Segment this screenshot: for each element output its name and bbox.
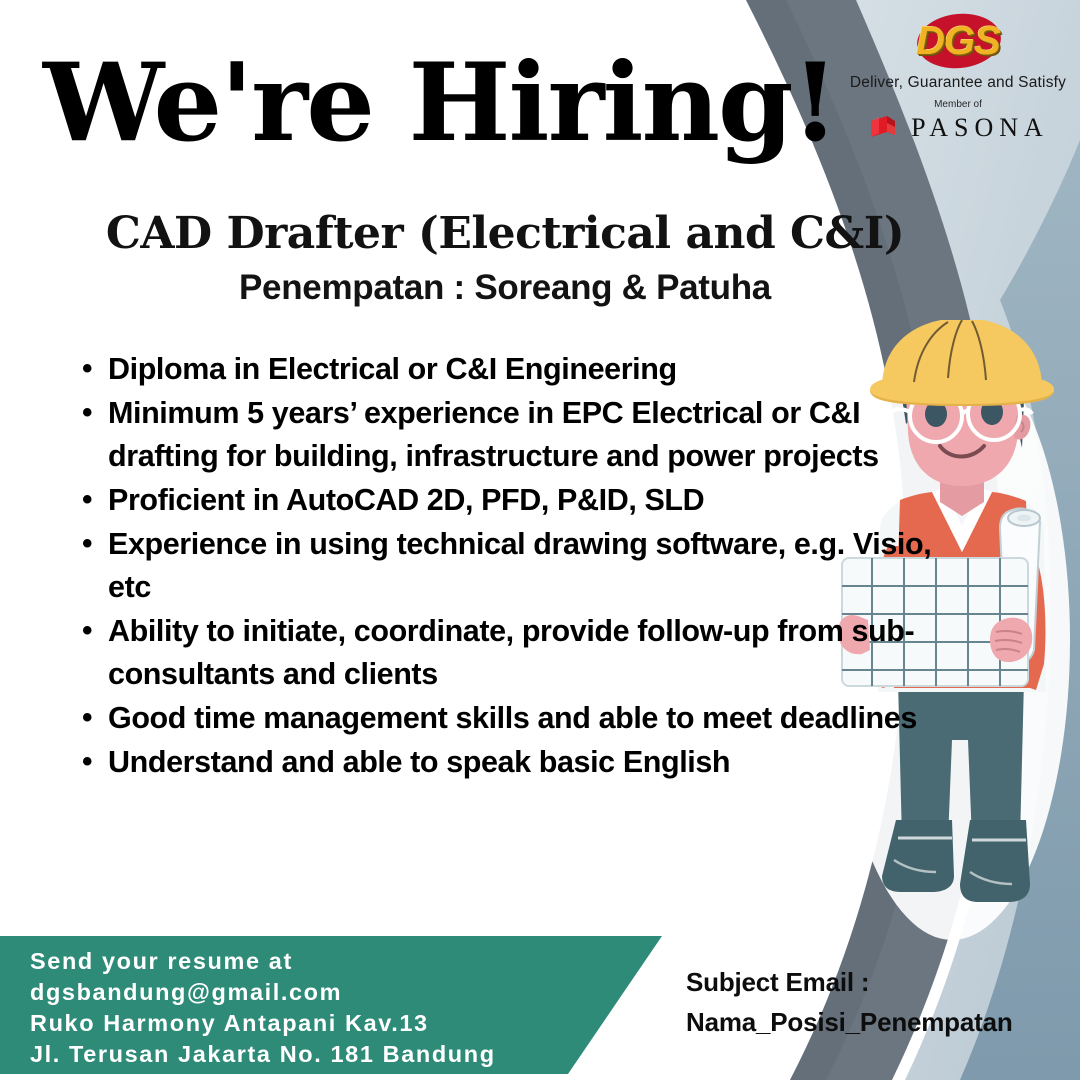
- list-item: Ability to initiate, coordinate, provide…: [72, 610, 962, 696]
- company-logo-block: DGS Deliver, Guarantee and Satisfy Membe…: [844, 10, 1072, 143]
- job-title: CAD Drafter (Electrical and C&I): [0, 208, 1010, 259]
- contact-line: Send your resume at: [30, 946, 590, 977]
- list-item: Understand and able to speak basic Engli…: [72, 741, 962, 784]
- subject-email-block: Subject Email : Nama_Posisi_Penempatan: [686, 962, 1046, 1042]
- list-item: Minimum 5 years’ experience in EPC Elect…: [72, 392, 962, 478]
- member-of-label: Member of: [844, 99, 1072, 110]
- requirements-list: Diploma in Electrical or C&I Engineering…: [72, 348, 962, 785]
- pasona-wordmark: PASONA: [911, 115, 1049, 141]
- list-item: Good time management skills and able to …: [72, 697, 962, 740]
- subject-email-label: Subject Email :: [686, 962, 1046, 1002]
- list-item: Experience in using technical drawing so…: [72, 523, 962, 609]
- boot-right: [960, 820, 1030, 902]
- page-title: We're Hiring!: [0, 48, 880, 158]
- list-item: Proficient in AutoCAD 2D, PFD, P&ID, SLD: [72, 479, 962, 522]
- hiring-poster: DGS Deliver, Guarantee and Satisfy Membe…: [0, 0, 1080, 1080]
- contact-line: Ruko Harmony Antapani Kav.13: [30, 1008, 590, 1039]
- contact-details: Send your resume at dgsbandung@gmail.com…: [30, 946, 590, 1070]
- contact-line: Jl. Terusan Jakarta No. 181 Bandung: [30, 1039, 590, 1070]
- list-item: Diploma in Electrical or C&I Engineering: [72, 348, 962, 391]
- boot-left: [882, 820, 954, 892]
- company-tagline: Deliver, Guarantee and Satisfy: [844, 74, 1072, 92]
- job-placement: Penempatan : Soreang & Patuha: [0, 268, 1010, 308]
- subject-email-format: Nama_Posisi_Penempatan: [686, 1002, 1046, 1042]
- contact-email: dgsbandung@gmail.com: [30, 977, 590, 1008]
- dgs-wordmark: DGS: [893, 16, 1023, 66]
- pasona-ribbon-icon: [867, 113, 901, 143]
- dgs-logo-mark: DGS: [893, 10, 1023, 72]
- pasona-row: PASONA: [844, 113, 1072, 143]
